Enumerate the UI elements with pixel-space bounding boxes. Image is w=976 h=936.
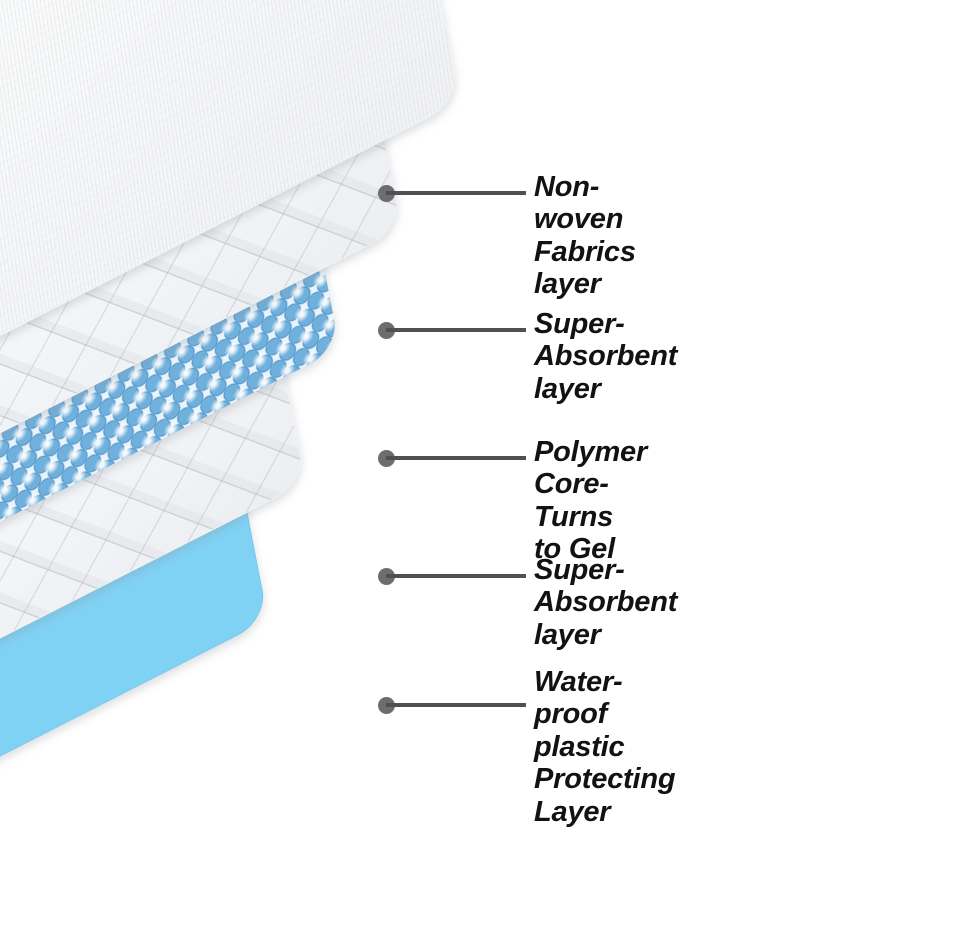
callout-label-super-absorbent-top: Super-Absorbent layer <box>534 308 677 405</box>
callout-leader-line <box>386 574 526 578</box>
callout-leader-line <box>386 191 526 195</box>
callout-leader-line <box>386 703 526 707</box>
callout-leader-line <box>386 456 526 460</box>
layer-diagram: Non-woven Fabrics layer Super-Absorbent … <box>0 0 976 936</box>
callout-label-water-proof-protecting: Water-proof plastic Protecting Layer <box>534 666 675 828</box>
callout-leader-line <box>386 328 526 332</box>
callout-label-polymer-core: Polymer Core-Turns to Gel <box>534 436 647 566</box>
callout-label-non-woven-fabrics: Non-woven Fabrics layer <box>534 171 636 301</box>
callout-label-super-absorbent-bottom: Super-Absorbent layer <box>534 554 677 651</box>
